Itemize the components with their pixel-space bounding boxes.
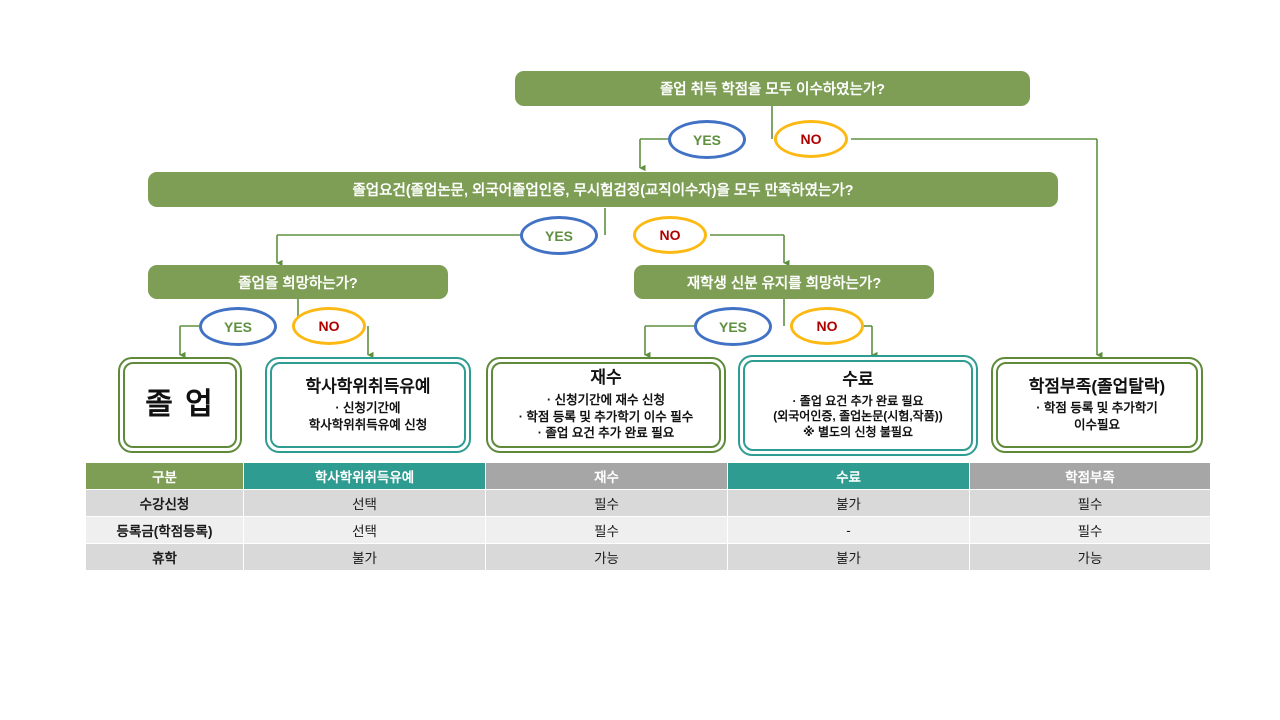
- table-header-row: 구분 학사학위취득유예 재수 수료 학점부족: [86, 463, 1211, 490]
- question-box-wish-graduate: 졸업을 희망하는가?: [148, 265, 448, 299]
- table-row-label: 휴학: [86, 544, 244, 571]
- decision-no-row3-left: NO: [292, 307, 366, 345]
- table-cell: 선택: [244, 517, 486, 544]
- question-box-requirements: 졸업요건(졸업논문, 외국어졸업인증, 무시험검정(교직이수자)을 모두 만족하…: [148, 172, 1058, 207]
- result-line: · 졸업 요건 추가 완료 필요: [773, 394, 943, 410]
- decision-no-row3-right-label: NO: [817, 318, 838, 334]
- table-header-cell-shortage: 학점부족: [970, 463, 1211, 490]
- table-row: 수강신청 선택 필수 불가 필수: [86, 490, 1211, 517]
- result-line: · 졸업 요건 추가 완료 필요: [519, 425, 694, 442]
- flowchart-canvas: 졸업 취득 학점을 모두 이수하였는가? 졸업요건(졸업논문, 외국어졸업인증,…: [0, 0, 1280, 720]
- question-box-credits-label: 졸업 취득 학점을 모두 이수하였는가?: [660, 78, 885, 99]
- result-box-degree-deferral-title: 학사학위취득유예: [305, 377, 430, 397]
- decision-no-row3-right: NO: [790, 307, 864, 345]
- decision-yes-row2: YES: [520, 216, 598, 255]
- decision-no-row2: NO: [633, 216, 707, 254]
- decision-no-row1-label: NO: [801, 131, 822, 147]
- decision-no-row3-left-label: NO: [319, 318, 340, 334]
- question-box-keep-status-label: 재학생 신분 유지를 희망하는가?: [687, 272, 881, 293]
- result-box-completion: 수료 · 졸업 요건 추가 완료 필요 (외국어인증, 졸업논문(시험,작품))…: [738, 355, 978, 456]
- table-header-cell-completion: 수료: [728, 463, 970, 490]
- result-box-retake-title: 재수: [590, 368, 621, 388]
- result-line: · 학점 등록 및 추가학기: [1036, 400, 1158, 417]
- table-cell: 필수: [970, 517, 1211, 544]
- comparison-table: 구분 학사학위취득유예 재수 수료 학점부족 수강신청 선택 필수 불가 필수 …: [85, 462, 1211, 571]
- table-row: 휴학 불가 가능 불가 가능: [86, 544, 1211, 571]
- table-cell: 가능: [486, 544, 728, 571]
- question-box-credits: 졸업 취득 학점을 모두 이수하였는가?: [515, 71, 1030, 106]
- decision-yes-row1-label: YES: [693, 132, 721, 148]
- result-box-degree-deferral: 학사학위취득유예 · 신청기간에 학사학위취득유예 신청: [265, 357, 471, 453]
- result-box-graduation-title: 졸 업: [145, 388, 215, 423]
- table-row-label: 등록금(학점등록): [86, 517, 244, 544]
- table-row: 등록금(학점등록) 선택 필수 - 필수: [86, 517, 1211, 544]
- result-box-retake: 재수 · 신청기간에 재수 신청 · 학점 등록 및 추가학기 이수 필수 · …: [486, 357, 726, 453]
- result-line: (외국어인증, 졸업논문(시험,작품)): [773, 409, 943, 425]
- result-line: · 신청기간에 재수 신청: [519, 392, 694, 409]
- result-line: 이수필요: [1036, 417, 1158, 434]
- question-box-requirements-label: 졸업요건(졸업논문, 외국어졸업인증, 무시험검정(교직이수자)을 모두 만족하…: [352, 179, 853, 200]
- decision-yes-row1: YES: [668, 120, 746, 159]
- table-cell: -: [728, 517, 970, 544]
- question-box-wish-graduate-label: 졸업을 희망하는가?: [238, 272, 358, 293]
- table-cell: 선택: [244, 490, 486, 517]
- result-box-completion-title: 수료: [842, 370, 873, 390]
- result-box-graduation: 졸 업: [118, 357, 242, 453]
- decision-no-row2-label: NO: [660, 227, 681, 243]
- table-header-cell-retake: 재수: [486, 463, 728, 490]
- decision-yes-row3-right-label: YES: [719, 319, 747, 335]
- table-cell: 필수: [970, 490, 1211, 517]
- decision-yes-row3-left-label: YES: [224, 319, 252, 335]
- table-cell: 불가: [244, 544, 486, 571]
- table-header-cell-category: 구분: [86, 463, 244, 490]
- decision-yes-row3-right: YES: [694, 307, 772, 346]
- table-row-label: 수강신청: [86, 490, 244, 517]
- table-cell: 불가: [728, 490, 970, 517]
- decision-no-row1: NO: [774, 120, 848, 158]
- result-line: · 신청기간에: [309, 400, 427, 417]
- table-cell: 필수: [486, 490, 728, 517]
- result-line: ※ 별도의 신청 불필요: [773, 425, 943, 441]
- table-cell: 불가: [728, 544, 970, 571]
- result-line: · 학점 등록 및 추가학기 이수 필수: [519, 409, 694, 426]
- table-cell: 필수: [486, 517, 728, 544]
- decision-yes-row2-label: YES: [545, 228, 573, 244]
- result-box-credit-shortage-title: 학점부족(졸업탈락): [1029, 377, 1165, 397]
- question-box-keep-status: 재학생 신분 유지를 희망하는가?: [634, 265, 934, 299]
- result-box-credit-shortage: 학점부족(졸업탈락) · 학점 등록 및 추가학기 이수필요: [991, 357, 1203, 453]
- table-cell: 가능: [970, 544, 1211, 571]
- decision-yes-row3-left: YES: [199, 307, 277, 346]
- table-header-cell-deferral: 학사학위취득유예: [244, 463, 486, 490]
- result-line: 학사학위취득유예 신청: [309, 417, 427, 434]
